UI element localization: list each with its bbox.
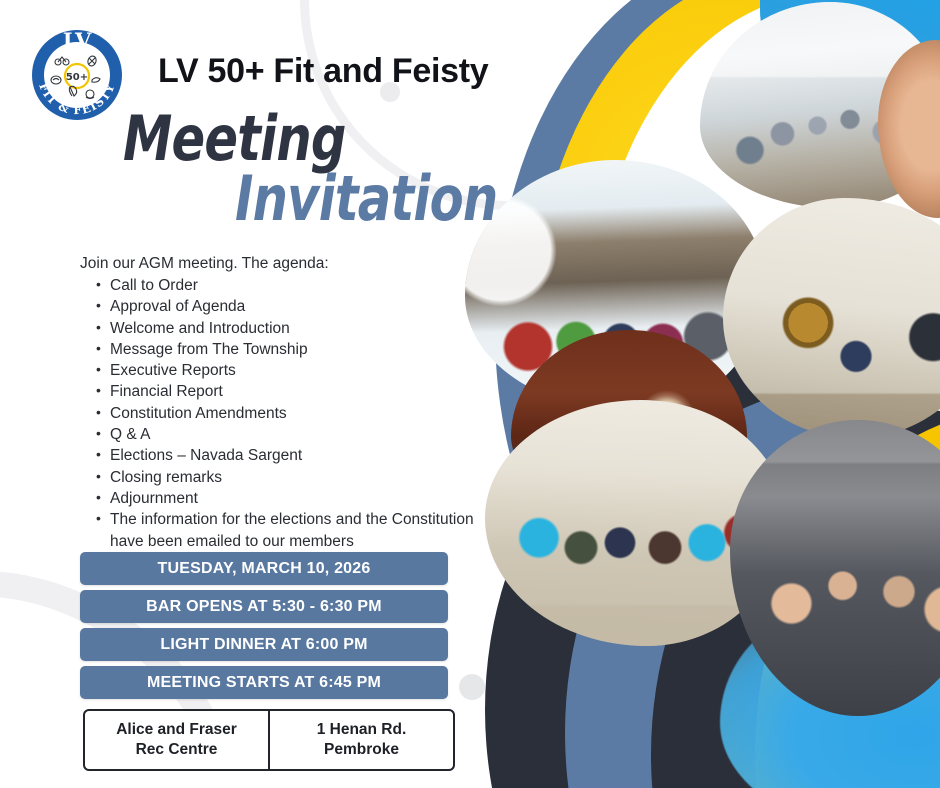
venue-name-cell: Alice and Fraser Rec Centre bbox=[85, 711, 268, 769]
schedule-bar-dinner: LIGHT DINNER AT 6:00 PM bbox=[80, 628, 448, 661]
list-item: Message from The Township bbox=[96, 339, 476, 360]
venue-address-cell: 1 Henan Rd. Pembroke bbox=[268, 711, 453, 769]
list-item: The information for the elections and th… bbox=[96, 509, 476, 552]
list-item: Closing remarks bbox=[96, 467, 476, 488]
list-item: Elections – Navada Sargent bbox=[96, 445, 476, 466]
club-logo: LV FIT & FEISTY 50+ bbox=[22, 20, 132, 130]
list-item: Call to Order bbox=[96, 275, 476, 296]
venue-address-line-1: 1 Henan Rd. bbox=[317, 720, 407, 740]
page-title: LV 50+ Fit and Feisty bbox=[158, 52, 488, 91]
agenda-lead-text: Join our AGM meeting. The agenda: bbox=[80, 255, 329, 273]
list-item: Q & A bbox=[96, 424, 476, 445]
photo-collage bbox=[455, 0, 940, 788]
poster-canvas: LV FIT & FEISTY 50+ LV 50+ bbox=[0, 0, 940, 788]
list-item: Approval of Agenda bbox=[96, 296, 476, 317]
agenda-list: Call to Order Approval of Agenda Welcome… bbox=[96, 275, 476, 552]
venue-box: Alice and Fraser Rec Centre 1 Henan Rd. … bbox=[83, 709, 455, 771]
schedule-bar-bar: BAR OPENS AT 5:30 - 6:30 PM bbox=[80, 590, 448, 623]
list-item: Constitution Amendments bbox=[96, 403, 476, 424]
list-item: Executive Reports bbox=[96, 360, 476, 381]
svg-text:50+: 50+ bbox=[66, 72, 88, 83]
headline-line-2: Invitation bbox=[235, 168, 497, 230]
schedule-bar-date: TUESDAY, MARCH 10, 2026 bbox=[80, 552, 448, 585]
venue-name-line-1: Alice and Fraser bbox=[116, 720, 237, 740]
headline-line-1: Meeting bbox=[123, 108, 346, 170]
list-item: Financial Report bbox=[96, 381, 476, 402]
schedule-bar-meeting: MEETING STARTS AT 6:45 PM bbox=[80, 666, 448, 699]
venue-name-line-2: Rec Centre bbox=[136, 740, 218, 760]
list-item: Adjournment bbox=[96, 488, 476, 509]
venue-address-line-2: Pembroke bbox=[324, 740, 399, 760]
schedule-bar-group: TUESDAY, MARCH 10, 2026 BAR OPENS AT 5:3… bbox=[80, 552, 448, 704]
photo-bus-trip bbox=[730, 420, 940, 716]
svg-text:LV: LV bbox=[63, 28, 92, 53]
list-item: Welcome and Introduction bbox=[96, 318, 476, 339]
